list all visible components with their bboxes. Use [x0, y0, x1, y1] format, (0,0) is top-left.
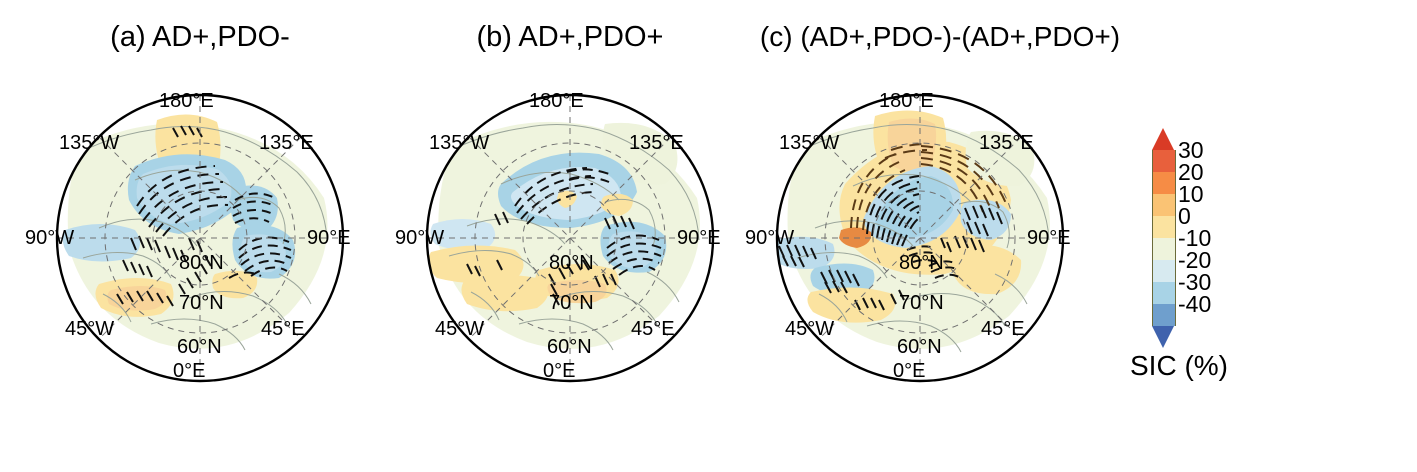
colorbar-tick--40: -40 [1178, 293, 1211, 316]
colorbar-top-arrow [1152, 128, 1174, 150]
panel-c-lon-180e: 180°E [879, 90, 934, 112]
panel-c-lon-0e: 0°E [893, 360, 925, 382]
panel-c-lon-135w: 135°W [779, 132, 839, 154]
colorbar: 3020100-10-20-30-40 SIC (%) [1148, 128, 1288, 388]
panel-a-lat-60n: 60°N [177, 336, 222, 358]
map-panel-b: (b) AD+,PDO+ [370, 0, 770, 472]
panel-a-lat-80n: 80°N [179, 252, 224, 274]
panel-b-title: (b) AD+,PDO+ [370, 20, 770, 54]
colorbar-band-4 [1153, 238, 1175, 260]
colorbar-band-0 [1153, 150, 1175, 172]
colorbar-band-7 [1153, 304, 1175, 326]
panel-b-lon-45e: 45°E [631, 318, 675, 340]
colorbar-bottom-arrow [1152, 326, 1174, 348]
colorbar-band-1 [1153, 172, 1175, 194]
colorbar-band-2 [1153, 194, 1175, 216]
colorbar-band-3 [1153, 216, 1175, 238]
colorbar-tick-labels: 3020100-10-20-30-40 [1178, 128, 1278, 348]
panel-b-lon-45w: 45°W [435, 318, 484, 340]
panel-a-lon-0e: 0°E [173, 360, 205, 382]
panel-c-lon-45e: 45°E [981, 318, 1025, 340]
panel-b-lon-0e: 0°E [543, 360, 575, 382]
panel-c-title: (c) (AD+,PDO-)-(AD+,PDO+) [740, 20, 1140, 54]
panel-c-lat-80n: 80°N [899, 252, 944, 274]
panel-c-lon-135e: 135°E [979, 132, 1034, 154]
panel-b-lon-90w: 90°W [395, 227, 444, 249]
colorbar-band-6 [1153, 282, 1175, 304]
panel-c-lon-45w: 45°W [785, 318, 834, 340]
panel-b-lat-70n: 70°N [549, 292, 594, 314]
panel-c-map: 180°E 135°W 135°E 90°W 90°E 45°W 45°E 0°… [759, 88, 1081, 388]
panel-a-lon-135w: 135°W [59, 132, 119, 154]
panel-b-lat-60n: 60°N [547, 336, 592, 358]
colorbar-axis-label: SIC (%) [1130, 350, 1280, 382]
colorbar-band-5 [1153, 260, 1175, 282]
panel-c-lat-60n: 60°N [897, 336, 942, 358]
panel-a-lon-135e: 135°E [259, 132, 314, 154]
panel-b-map: 180°E 135°W 135°E 90°W 90°E 45°W 45°E 0°… [409, 88, 731, 388]
panel-a-lon-45w: 45°W [65, 318, 114, 340]
panel-c-lat-70n: 70°N [899, 292, 944, 314]
panel-a-map: 180°E 135°W 135°E 90°W 90°E 45°W 45°E 0°… [39, 88, 361, 388]
panel-a-title: (a) AD+,PDO- [0, 20, 400, 54]
panel-c-lon-90w: 90°W [745, 227, 794, 249]
panel-b-lat-80n: 80°N [549, 252, 594, 274]
panel-b-lon-135w: 135°W [429, 132, 489, 154]
panel-b-lon-90e: 90°E [677, 227, 721, 249]
panel-b-lon-180e: 180°E [529, 90, 584, 112]
panel-b-lon-135e: 135°E [629, 132, 684, 154]
map-panel-a: (a) AD+,PDO- [0, 0, 400, 472]
panel-a-lon-90w: 90°W [25, 227, 74, 249]
panel-a-lon-90e: 90°E [307, 227, 351, 249]
panel-c-lon-90e: 90°E [1027, 227, 1071, 249]
panel-a-lon-45e: 45°E [261, 318, 305, 340]
panel-a-lon-180e: 180°E [159, 90, 214, 112]
colorbar-bands [1152, 150, 1176, 326]
map-panel-c: (c) (AD+,PDO-)-(AD+,PDO+) [720, 0, 1120, 472]
panel-a-lat-70n: 70°N [179, 292, 224, 314]
